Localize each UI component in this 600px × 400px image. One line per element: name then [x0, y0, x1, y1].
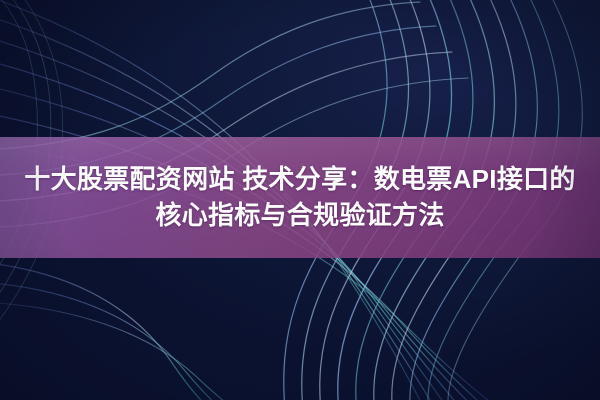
title-line-2: 核心指标与合规验证方法 [155, 202, 444, 229]
banner-image: 十大股票配资网站 技术分享：数电票API接口的 核心指标与合规验证方法 [0, 0, 600, 400]
title-block: 十大股票配资网站 技术分享：数电票API接口的 核心指标与合规验证方法 [0, 137, 600, 258]
title-line-1: 十大股票配资网站 技术分享：数电票API接口的 [24, 166, 575, 193]
